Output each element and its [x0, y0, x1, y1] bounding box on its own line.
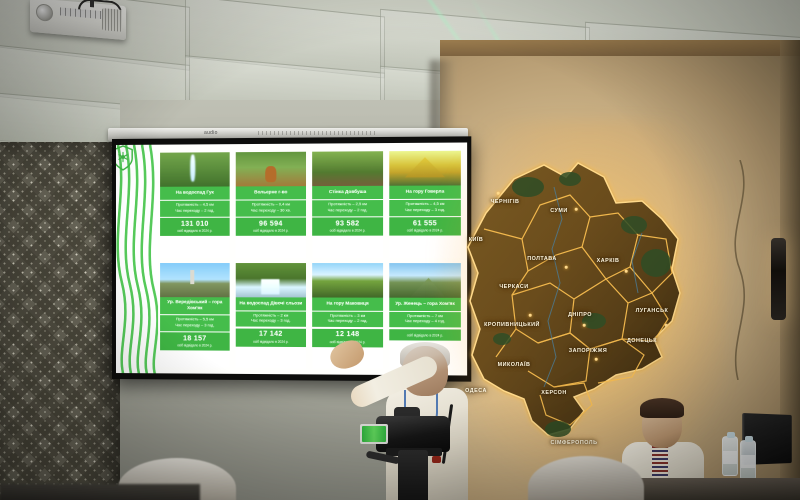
water-bottle[interactable]: [740, 440, 756, 480]
route-time: Час переходу – 30 хв.: [238, 207, 304, 213]
route-stat: 18 157 осіб відвідало в 2024 р.: [160, 332, 230, 350]
route-stat: 17 142 осіб відвідало в 2024 р.: [236, 328, 306, 347]
route-visitors: 18 157: [162, 335, 228, 342]
route-title: Стінка Довбуша: [312, 186, 383, 199]
map-city-dot: [595, 358, 598, 361]
route-time: Час переходу – 3 год.: [238, 318, 304, 324]
projector-vent: [102, 8, 122, 32]
map-city-dot: [665, 324, 668, 327]
map-region-label: КИЇВ: [469, 237, 484, 243]
map-region-label: ЧЕРНІГІВ: [491, 199, 520, 205]
route-card[interactable]: Вольєрне г-во Протяжність – 0,4 км Час п…: [236, 152, 306, 258]
wall-left-embroidery-pattern: [0, 142, 120, 500]
map-region-label: ХАРКІВ: [597, 258, 620, 264]
route-card[interactable]: На водоспад Дівочі сльози Протяжність – …: [236, 263, 306, 369]
conference-room-scene: audio: [0, 0, 800, 500]
route-visitors-caption: осіб відвідало в 2024 р.: [162, 229, 228, 233]
slide-ribbon-decoration: [116, 145, 158, 374]
route-time: Час переходу – 3 год.: [162, 322, 228, 328]
route-title: На водоспад Дівочі сльози: [236, 297, 306, 310]
route-card[interactable]: Стінка Довбуша Протяжність – 2,5 км Час …: [312, 151, 383, 257]
map-region-label: СУМИ: [550, 208, 568, 214]
route-thumbnail-rock-forest-icon: [312, 151, 383, 186]
route-stat: 93 582 осіб відвідало в 2024 р.: [312, 218, 383, 236]
route-title: На водоспад Гук: [160, 186, 230, 199]
route-time: Час переходу – 2 год.: [162, 207, 228, 213]
route-visitors-caption: осіб відвідало в 2024 р.: [162, 343, 228, 347]
route-visitors: 131 010: [162, 220, 228, 227]
projector-arm: [90, 0, 94, 7]
route-meta: Протяжність – 4,5 км Час переходу – 2 го…: [160, 200, 230, 217]
route-thumbnail-waterfall-icon: [160, 152, 230, 187]
route-meta: Протяжність – 2,5 км Час переходу – 2 го…: [312, 199, 383, 216]
water-bottle[interactable]: [722, 436, 738, 476]
participant-hair: [640, 398, 684, 418]
tripod-head: [398, 450, 428, 500]
wall-sconce-light: [771, 238, 786, 320]
route-time: Час переходу – 2 год.: [314, 207, 381, 213]
route-card[interactable]: Ур. Вередівський – гора Хом'як Протяжніс…: [160, 263, 230, 368]
route-title: Ур. Вередівський – гора Хом'як: [160, 297, 230, 315]
route-thumbnail-waterfall-two-icon: [236, 263, 306, 297]
map-region-label: ПОЛТАВА: [527, 256, 557, 262]
route-visitors: 17 142: [238, 331, 304, 338]
route-visitors-caption: осіб відвідало в 2024 р.: [238, 339, 304, 343]
map-region-label: ЛУГАНСЬК: [636, 308, 669, 314]
ceiling-trim: [440, 40, 800, 56]
audience-shoulder: [0, 484, 200, 500]
map-region-label: ЗАПОРІЖЖЯ: [569, 348, 607, 354]
route-meta: Протяжність – 5,5 км Час переходу – 3 го…: [160, 314, 230, 331]
route-meta: Протяжність – 0,4 км Час переходу – 30 х…: [236, 199, 306, 216]
route-visitors-caption: осіб відвідало в 2024 р.: [238, 229, 304, 233]
route-card[interactable]: На водоспад Гук Протяжність – 4,5 км Час…: [160, 152, 230, 257]
map-city-dot: [625, 270, 628, 273]
projector-lens-icon: [36, 3, 53, 21]
route-thumbnail-monument-summit-icon: [160, 263, 230, 297]
map-city-dot: [529, 314, 532, 317]
map-city-dot: [497, 192, 500, 195]
camera-lcd-screen[interactable]: [360, 424, 388, 444]
map-city-dot: [575, 208, 578, 211]
route-stat: 131 010 осіб відвідало в 2024 р.: [160, 218, 230, 236]
route-meta: Протяжність – 3 км Час переходу – 2 год.: [312, 310, 383, 327]
route-time: Час переходу – 2 год.: [314, 318, 381, 324]
roller-brand-label: audio: [204, 130, 218, 136]
map-city-dot: [565, 266, 568, 269]
roller-vent-dots: [258, 131, 378, 135]
map-region-label: СІМФЕРОПОЛЬ: [551, 440, 598, 446]
map-region-label: КРОПИВНИЦЬКИЙ: [484, 322, 540, 328]
wall-cable: [720, 160, 760, 380]
map-region-label: ХЕРСОН: [541, 390, 567, 396]
map-region-label: ЧЕРКАСИ: [499, 284, 528, 290]
route-meta: Протяжність – 2 км Час переходу – 3 год.: [236, 310, 306, 327]
map-city-dot: [583, 324, 586, 327]
route-stat: 96 594 осіб відвідало в 2024 р.: [236, 218, 306, 236]
route-thumbnail-deer-icon: [236, 152, 306, 187]
map-region-label: ДОНЕЦЬК: [627, 338, 657, 344]
map-region-label: ДНІПРО: [568, 312, 592, 318]
route-thumbnail-green-ridge-icon: [312, 263, 383, 298]
map-region-label: МИКОЛАЇВ: [498, 362, 531, 368]
route-title: Вольєрне г-во: [236, 186, 306, 199]
dslr-camera-on-tripod[interactable]: [360, 410, 476, 500]
route-visitors: 96 594: [238, 220, 304, 227]
route-visitors: 93 582: [314, 220, 381, 227]
route-visitors-caption: осіб відвідало в 2024 р.: [314, 229, 381, 233]
forestry-emblem: [116, 145, 134, 171]
route-title: На гору Маковиця: [312, 297, 383, 310]
tripod-lock-knob[interactable]: [432, 456, 441, 463]
